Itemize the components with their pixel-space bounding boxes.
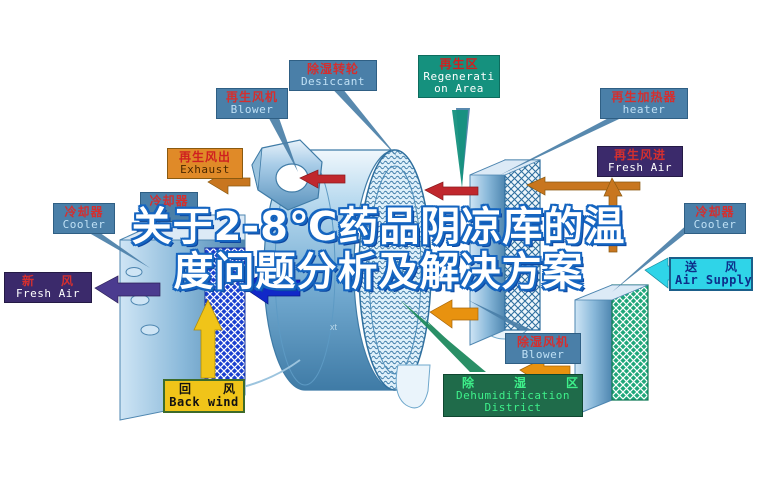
label-regen-area: 再生区 Regenerati on Area	[418, 55, 500, 98]
label-back-wind: 回 风 Back wind	[163, 379, 245, 413]
label-regen-blower: 再生风机 Blower	[216, 88, 288, 119]
label-cn: 除 湿 区	[448, 377, 578, 390]
label-cn: 除湿风机	[510, 336, 576, 349]
label-cn: 再生加热器	[605, 91, 683, 104]
label-en: heater	[605, 104, 683, 116]
label-en: Desiccant	[294, 76, 372, 88]
regen-intake-arrow-graphic	[527, 177, 640, 195]
diagram-canvas: xt	[0, 0, 757, 488]
label-en: Back wind	[169, 396, 239, 409]
label-dehumid-blower: 除湿风机 Blower	[505, 333, 581, 364]
title-line-2: 度问题分析及解决方案	[0, 250, 757, 295]
label-en: Blower	[221, 104, 283, 116]
label-cn: 再生风出	[172, 151, 238, 164]
label-en: Exhaust	[172, 164, 238, 176]
label-cn: 再生区	[423, 58, 495, 71]
page-title: 关于2-8℃药品阴凉库的温 度问题分析及解决方案	[0, 205, 757, 295]
label-en-line2: District	[448, 402, 578, 414]
label-cn: 回 风	[169, 383, 239, 396]
label-en: Blower	[510, 349, 576, 361]
title-line-1: 关于2-8℃药品阴凉库的温	[0, 205, 757, 250]
label-regen-exhaust: 再生风出 Exhaust	[167, 148, 243, 179]
label-en: Fresh Air	[602, 162, 678, 174]
label-cn: 再生风进	[602, 149, 678, 162]
label-regen-fresh-air: 再生风进 Fresh Air	[597, 146, 683, 177]
label-regen-heater: 再生加热器 heater	[600, 88, 688, 119]
label-cn: 再生风机	[221, 91, 283, 104]
label-cn: 除湿转轮	[294, 63, 372, 76]
label-desiccant-wheel: 除湿转轮 Desiccant	[289, 60, 377, 91]
svg-text:xt: xt	[330, 322, 338, 332]
right-cooler-unit	[575, 285, 648, 415]
label-dehumid-district: 除 湿 区 Dehumidification District	[443, 374, 583, 417]
label-en-line2: on Area	[423, 83, 495, 95]
